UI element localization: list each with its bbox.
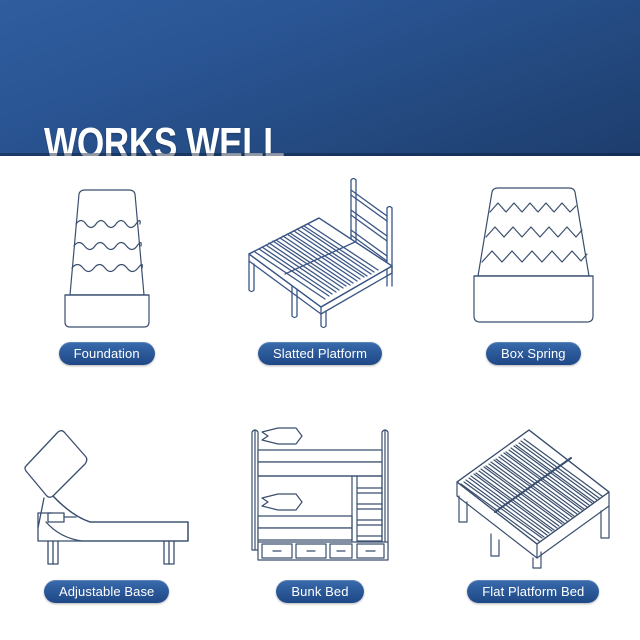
mattress-foundation-icon [7,160,207,340]
base-label-bunk-bed[interactable]: Bunk Bed [276,580,363,603]
slatted-platform-bed-icon [220,160,420,340]
base-item-foundation: Foundation [0,156,213,398]
page-title-line-1: WORKS WELL [44,120,386,156]
base-item-bunk-bed: Bunk Bed [213,398,426,640]
base-label-foundation[interactable]: Foundation [59,342,155,365]
bases-grid: Foundation [0,156,640,640]
header-banner: WORKS WELL WITH THESE BASES [0,0,640,156]
base-item-flat-platform-bed: Flat Platform Bed [427,398,640,640]
works-well-with-these-bases-card: WORKS WELL WITH THESE BASES Fou [0,0,640,640]
base-item-box-spring: Box Spring [427,156,640,398]
base-label-slatted-platform[interactable]: Slatted Platform [258,342,382,365]
page-title: WORKS WELL WITH THESE BASES [44,26,386,156]
bunk-bed-icon [220,408,420,578]
base-item-slatted-platform: Slatted Platform [213,156,426,398]
base-label-box-spring[interactable]: Box Spring [486,342,581,365]
adjustable-base-icon [7,408,207,578]
flat-platform-bed-icon [433,408,633,578]
base-label-flat-platform-bed[interactable]: Flat Platform Bed [467,580,599,603]
base-item-adjustable-base: Adjustable Base [0,398,213,640]
base-label-adjustable-base[interactable]: Adjustable Base [44,580,169,603]
box-spring-icon [433,160,633,340]
